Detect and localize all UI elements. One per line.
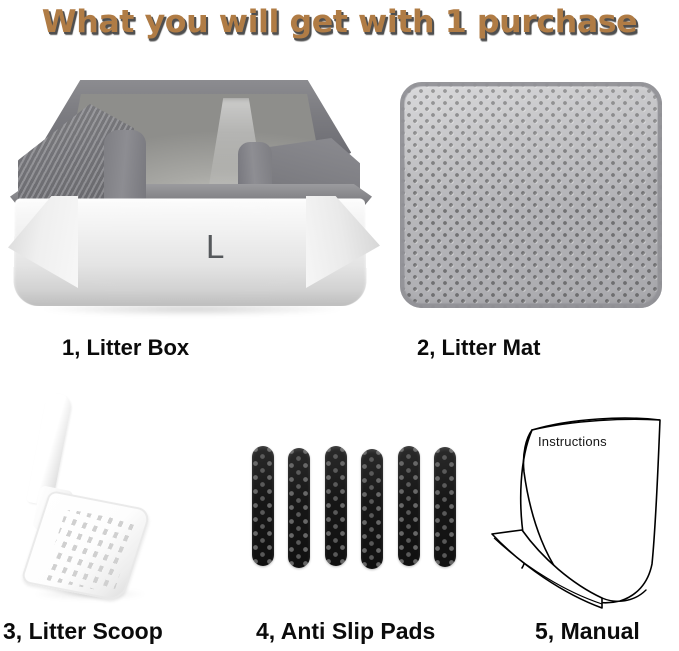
item-label-litter-scoop: 3, Litter Scoop — [3, 618, 163, 645]
product-image-litter-scoop — [10, 392, 170, 604]
product-image-anti-slip-pads — [252, 446, 456, 572]
product-image-manual: Instructions — [486, 398, 676, 614]
manual-line-drawing — [486, 398, 676, 614]
litter-box-size-marking: L — [206, 228, 225, 266]
anti-slip-pad — [361, 449, 383, 569]
anti-slip-pad — [434, 447, 456, 567]
product-image-litter-mat — [400, 82, 662, 308]
page-title: What you will get with 1 purchase — [0, 0, 679, 48]
anti-slip-pad — [325, 446, 347, 566]
item-label-manual: 5, Manual — [535, 618, 640, 645]
anti-slip-pad — [252, 446, 274, 566]
anti-slip-pad — [398, 446, 420, 566]
item-label-litter-box: 1, Litter Box — [62, 335, 189, 361]
product-image-litter-box: L — [8, 80, 380, 320]
item-label-litter-mat: 2, Litter Mat — [417, 335, 540, 361]
anti-slip-pad — [288, 448, 310, 568]
manual-instructions-caption: Instructions — [538, 434, 607, 449]
item-label-anti-slip-pads: 4, Anti Slip Pads — [256, 618, 435, 645]
